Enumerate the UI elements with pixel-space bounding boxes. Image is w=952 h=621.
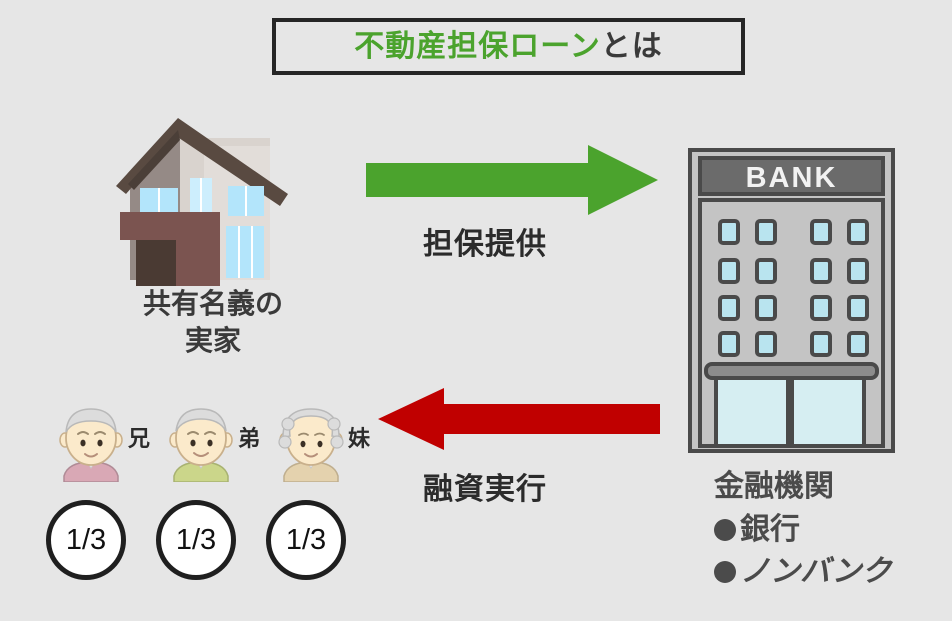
diagram-title-box: 不動産担保ローンとは bbox=[272, 18, 745, 75]
ownership-shares: 1/3 1/3 1/3 bbox=[44, 500, 384, 586]
sibling-younger-brother-label: 弟 bbox=[238, 428, 260, 450]
title-suffix: とは bbox=[601, 30, 663, 63]
collateral-arrow bbox=[366, 145, 658, 215]
house-icon bbox=[108, 108, 318, 288]
loan-arrow bbox=[378, 388, 660, 450]
bank-caption-item-nonbank: ノンバンク bbox=[714, 551, 892, 594]
diagram-canvas: 不動産担保ローンとは bbox=[0, 0, 952, 621]
bank-caption-item-nonbank-label: ノンバンク bbox=[740, 551, 892, 594]
loan-arrow-label: 融資実行 bbox=[423, 464, 547, 508]
sibling-younger-brother: 弟 bbox=[162, 398, 240, 482]
bank-caption-title: 金融機関 bbox=[714, 466, 892, 509]
sibling-younger-sister-label: 妹 bbox=[348, 428, 370, 450]
svg-text:BANK: BANK bbox=[746, 162, 838, 194]
bullet-dot-icon bbox=[714, 519, 736, 541]
bank-caption-item-bank: 銀行 bbox=[714, 509, 892, 552]
collateral-arrow-label: 担保提供 bbox=[423, 219, 547, 263]
title-highlight: 不動産担保ローン bbox=[354, 30, 601, 63]
bank-caption: 金融機関 銀行 ノンバンク bbox=[714, 466, 892, 594]
share-older-brother: 1/3 bbox=[46, 500, 126, 580]
sibling-younger-sister: 妹 bbox=[272, 398, 350, 482]
house-label: 共有名義の 実家 bbox=[78, 286, 348, 360]
bullet-dot-icon bbox=[714, 561, 736, 583]
share-younger-sister: 1/3 bbox=[266, 500, 346, 580]
share-younger-brother: 1/3 bbox=[156, 500, 236, 580]
sibling-older-brother: 兄 bbox=[52, 398, 130, 482]
bank-building-icon: BANK bbox=[688, 148, 895, 453]
sibling-older-brother-label: 兄 bbox=[128, 428, 150, 450]
page-title: 不動産担保ローンとは bbox=[354, 32, 663, 62]
owners-row: 兄 弟 bbox=[44, 398, 384, 482]
bank-caption-item-bank-label: 銀行 bbox=[740, 509, 800, 552]
